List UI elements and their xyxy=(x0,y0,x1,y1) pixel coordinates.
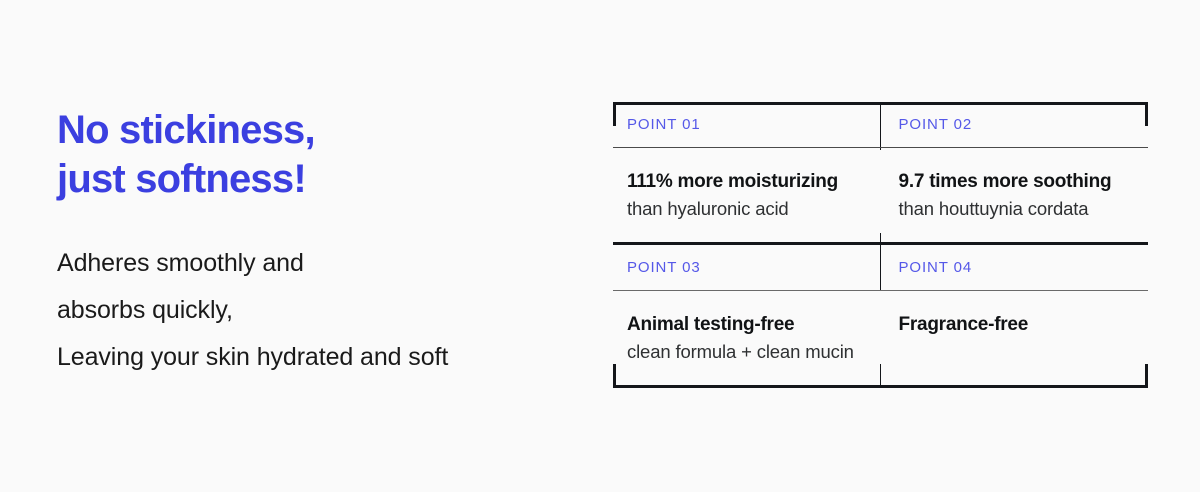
point-cell-3: POINT 03 Animal testing-free clean formu… xyxy=(613,245,881,388)
page-root: No stickiness, just softness! Adheres sm… xyxy=(0,0,1200,492)
points-row-2: POINT 03 Animal testing-free clean formu… xyxy=(613,245,1148,388)
label-rule-1 xyxy=(613,147,881,148)
point-label-4: POINT 04 xyxy=(899,245,1149,276)
page-subcopy: Adheres smoothly and absorbs quickly, Le… xyxy=(57,204,557,381)
label-rule-2 xyxy=(881,147,1149,148)
point-title-4: Fragrance-free xyxy=(899,313,1149,337)
points-row-1: POINT 01 111% more moisturizing than hya… xyxy=(613,102,1148,245)
point-title-1: 111% more moisturizing xyxy=(627,170,881,194)
point-title-3: Animal testing-free xyxy=(627,313,881,337)
point-cell-4: POINT 04 Fragrance-free xyxy=(881,245,1149,388)
copy-block: No stickiness, just softness! Adheres sm… xyxy=(57,106,557,381)
label-rule-4 xyxy=(881,290,1149,291)
point-subtitle-4 xyxy=(899,337,1149,340)
point-subtitle-3: clean formula + clean mucin xyxy=(627,337,881,365)
point-label-3: POINT 03 xyxy=(627,245,881,276)
point-label-2: POINT 02 xyxy=(899,102,1149,133)
label-rule-3 xyxy=(613,290,881,291)
point-subtitle-2: than houttuynia cordata xyxy=(899,194,1149,222)
point-title-2: 9.7 times more soothing xyxy=(899,170,1149,194)
page-title: No stickiness, just softness! xyxy=(57,106,557,204)
point-subtitle-1: than hyaluronic acid xyxy=(627,194,881,222)
point-cell-2: POINT 02 9.7 times more soothing than ho… xyxy=(881,102,1149,245)
points-table: POINT 01 111% more moisturizing than hya… xyxy=(613,102,1148,388)
point-label-1: POINT 01 xyxy=(627,102,881,133)
point-cell-1: POINT 01 111% more moisturizing than hya… xyxy=(613,102,881,245)
